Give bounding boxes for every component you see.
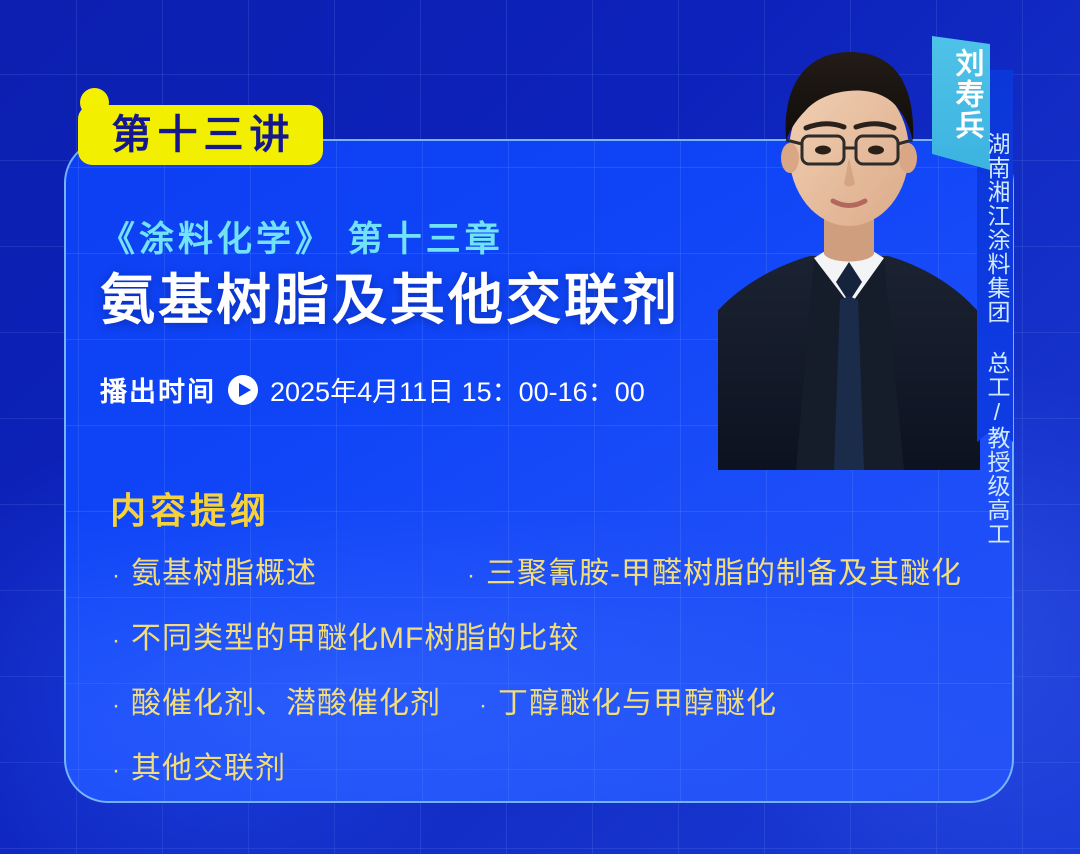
list-item: · 其他交联剂 bbox=[112, 743, 1002, 787]
bullet-icon: · bbox=[479, 694, 488, 718]
outline-item-label: 氨基树脂概述 bbox=[131, 548, 317, 592]
airtime-label: 播出时间 bbox=[100, 370, 216, 409]
outline-item-left: · 氨基树脂概述 bbox=[112, 548, 317, 592]
outline-heading: 内容提纲 bbox=[110, 482, 270, 534]
bullet-icon: · bbox=[112, 759, 121, 783]
outline-item-left: · 酸催化剂、潜酸催化剂 bbox=[112, 678, 441, 722]
bullet-icon: · bbox=[112, 629, 121, 653]
bullet-icon: · bbox=[112, 564, 121, 588]
outline-item-right: · 丁醇醚化与甲醇醚化 bbox=[479, 678, 777, 722]
lecture-badge: 第十三讲 bbox=[78, 105, 323, 165]
bullet-icon: · bbox=[467, 564, 476, 588]
play-icon[interactable] bbox=[228, 375, 258, 405]
page-title: 氨基树脂及其他交联剂 bbox=[100, 268, 680, 333]
lecture-poster: 第十三讲 《涂料化学》 第十三章 氨基树脂及其他交联剂 播出时间 2025年4月… bbox=[0, 0, 1080, 854]
speaker-affiliation: 湖南湘江涂料集团 总工/教授级高工 bbox=[981, 132, 1010, 546]
list-item: · 氨基树脂概述 · 三聚氰胺-甲醛树脂的制备及其醚化 bbox=[112, 548, 1002, 592]
outline-item-right: · 三聚氰胺-甲醛树脂的制备及其醚化 bbox=[467, 548, 962, 592]
speaker-name: 刘寿兵 bbox=[940, 48, 984, 141]
outline-item-label: 其他交联剂 bbox=[131, 743, 286, 787]
outline-item-left: · 不同类型的甲醚化MF树脂的比较 bbox=[112, 613, 579, 657]
outline-item-label: 酸催化剂、潜酸催化剂 bbox=[131, 678, 441, 722]
airtime-value: 2025年4月11日 15：00-16：00 bbox=[270, 370, 645, 409]
outline-item-label: 丁醇醚化与甲醇醚化 bbox=[498, 678, 777, 722]
list-item: · 酸催化剂、潜酸催化剂 · 丁醇醚化与甲醇醚化 bbox=[112, 678, 1002, 722]
lecture-badge-label: 第十三讲 bbox=[106, 115, 296, 155]
outline-item-label: 三聚氰胺-甲醛树脂的制备及其醚化 bbox=[486, 548, 962, 592]
title-block: 《涂料化学》 第十三章 氨基树脂及其他交联剂 bbox=[100, 218, 680, 333]
airtime-row: 播出时间 2025年4月11日 15：00-16：00 bbox=[100, 370, 645, 409]
outline-item-label: 不同类型的甲醚化MF树脂的比较 bbox=[131, 613, 579, 657]
outline-item-left: · 其他交联剂 bbox=[112, 743, 286, 787]
outline-list: · 氨基树脂概述 · 三聚氰胺-甲醛树脂的制备及其醚化 · 不同类型的甲醚化MF… bbox=[112, 548, 1002, 808]
bullet-icon: · bbox=[112, 694, 121, 718]
list-item: · 不同类型的甲醚化MF树脂的比较 bbox=[112, 613, 1002, 657]
course-subtitle: 《涂料化学》 第十三章 bbox=[100, 218, 680, 262]
